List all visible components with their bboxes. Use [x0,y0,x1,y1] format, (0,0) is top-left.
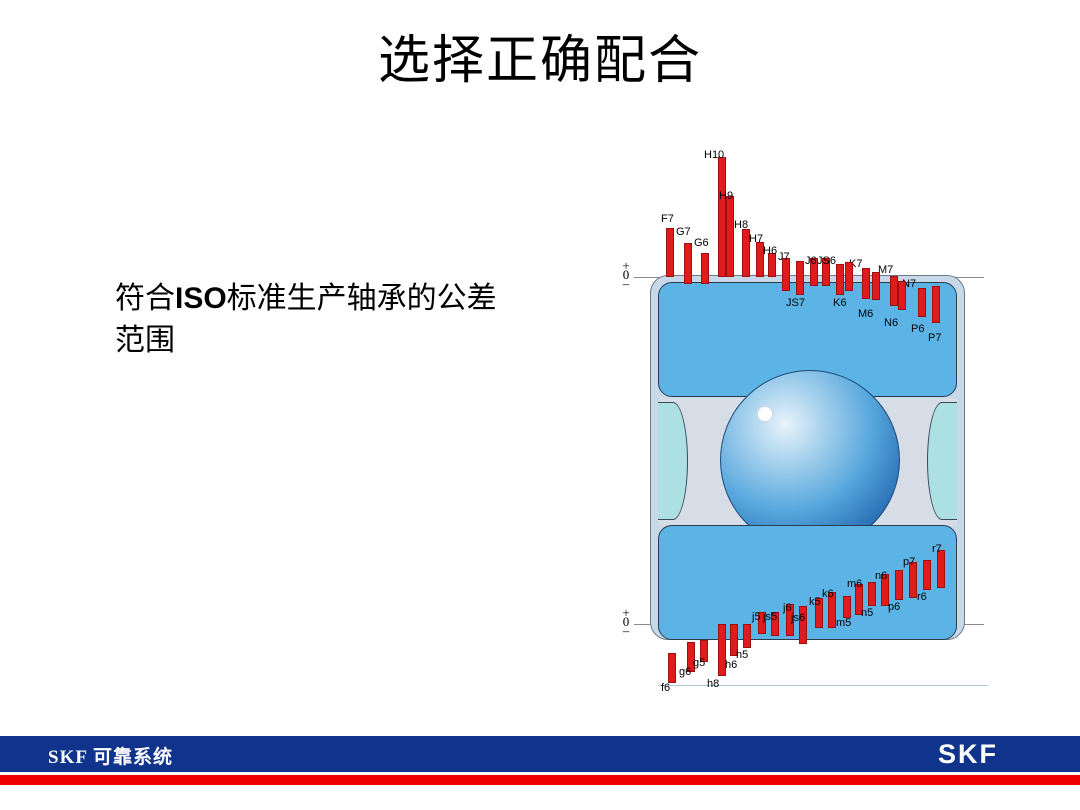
tolerance-bar-label-h7: H7 [749,233,763,245]
tolerance-bar-label-j6: J6 [805,255,817,267]
body-text-prefix: 符合 [115,282,175,315]
tolerance-bar-m7 [862,268,870,299]
tolerance-bar-g7 [684,243,692,284]
tolerance-bar-label-k6: K6 [833,297,846,309]
tolerance-bar-h10 [718,157,726,277]
tolerance-bar-label-h9: H9 [719,190,733,202]
tolerance-bar-label-p7: p7 [903,556,915,568]
tolerance-bar-m5 [843,596,851,618]
tolerance-bar-label-g7: G7 [676,226,691,238]
body-text: 符合ISO标准生产轴承的公差范围 [115,278,515,362]
tolerance-bar-label-h8: h8 [707,678,719,690]
body-text-iso: ISO [175,282,227,315]
tolerance-bar-label-js6: js6 [791,612,805,624]
bearing-ball [720,370,900,550]
footer-red-stripe [0,775,1080,785]
bearing-raceway-right [927,402,957,520]
tolerance-bar-label-g6: G6 [694,237,709,249]
tolerance-bar-m6 [872,272,880,300]
tolerance-bar-n7 [890,276,898,306]
tolerance-bar-label-g5: g5 [693,657,705,669]
tolerance-bar-r7 [937,550,945,588]
tolerance-bar-label-js7: JS7 [786,297,805,309]
tolerance-bar-label-js5: js5 [763,611,777,623]
tolerance-bar-r6 [923,560,931,590]
tolerance-bar-label-m7: M7 [878,264,893,276]
tolerance-bar-label-g6: g6 [679,666,691,678]
tolerance-bar-f6 [668,653,676,683]
skf-logo: SKF [938,739,998,770]
tolerance-bar-label-m6: m6 [847,578,862,590]
tolerance-bar-label-j5: j5 [752,611,761,623]
axis-minus-sign: – [616,279,636,288]
tolerance-bar-h5 [743,624,751,648]
tolerance-bar-label-n5: n5 [861,607,873,619]
tolerance-bar-n6 [898,281,906,310]
tolerance-bar-p6 [918,288,926,317]
tolerance-bar-label-m5: m5 [836,617,851,629]
tolerance-bar-label-h8: H8 [734,219,748,231]
tolerance-bar-k7 [836,264,844,295]
tolerance-bar-label-h10: H10 [704,149,724,161]
tolerance-bar-label-k5: k5 [809,596,821,608]
axis-minus-sign: – [616,626,636,635]
tolerance-fit-diagram: + 0 – + 0 – F7G7G6H10H9H8H7H6J7JS7J6JS6K… [600,130,1000,710]
tolerance-bar-f7 [666,228,674,277]
tolerance-bar-h9 [726,196,734,277]
bearing-ball-highlight [757,406,773,422]
bearing-raceway-left [658,402,688,520]
tolerance-bar-k6 [845,262,853,291]
tolerance-bar-label-m6: M6 [858,308,873,320]
tolerance-bar-label-r6: r6 [917,591,927,603]
tolerance-bar-label-js6: JS6 [817,255,836,267]
tolerance-bar-label-h6: H6 [763,245,777,257]
footer-left-text: SKF 可靠系统 [48,742,173,769]
tolerance-bar-label-n6: N6 [884,317,898,329]
tolerance-bar-n5 [868,582,876,606]
tolerance-bar-label-p6: P6 [911,323,924,335]
tolerance-bar-g6 [701,253,709,284]
tolerance-bar-label-f6: f6 [661,682,670,694]
tolerance-bar-label-j7: J7 [778,251,790,263]
axis-marker-lower: + 0 – [616,608,636,635]
axis-marker-upper: + 0 – [616,261,636,288]
tolerance-bar-p6 [895,570,903,600]
tolerance-bar-label-h5: h5 [736,649,748,661]
tolerance-bar-js7 [796,261,804,295]
tolerance-bar-label-k6: k6 [822,588,834,600]
page-title: 选择正确配合 [0,32,1080,92]
tolerance-bar-label-p6: p6 [888,601,900,613]
tolerance-bar-label-p7: P7 [928,332,941,344]
tolerance-bar-p7 [932,286,940,323]
tolerance-bar-label-f7: F7 [661,213,674,225]
tolerance-bar-label-n6: n6 [875,570,887,582]
tolerance-bar-label-r7: r7 [932,543,942,555]
